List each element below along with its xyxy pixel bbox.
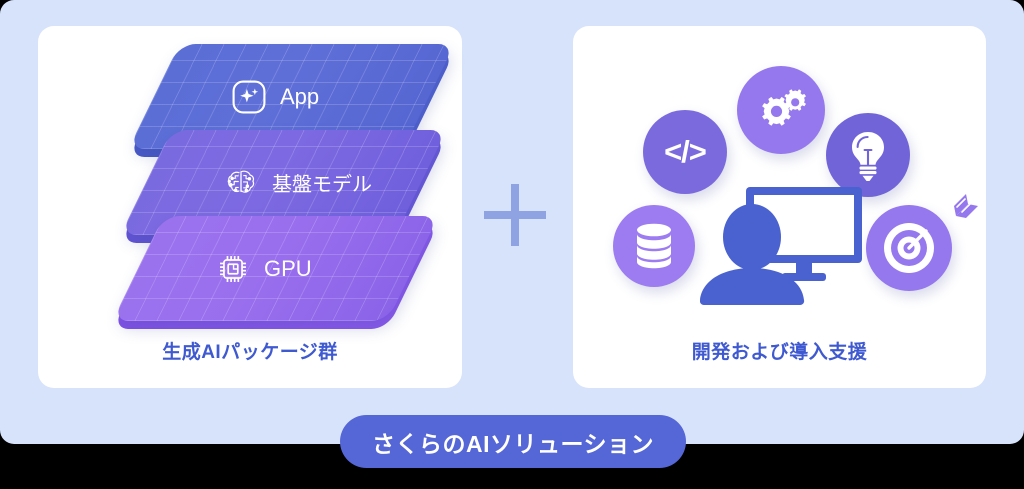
- database-icon: [632, 221, 676, 271]
- plus-icon: [484, 184, 546, 246]
- code-bubble[interactable]: </>: [643, 110, 727, 194]
- solution-badge[interactable]: さくらのAIソリューション: [340, 415, 686, 468]
- lightbulb-icon: [843, 128, 893, 182]
- database-bubble[interactable]: [613, 205, 695, 287]
- person-at-monitor-icon: [700, 185, 865, 310]
- gears-icon: [753, 85, 809, 135]
- right-card-caption: 開発および導入支援: [573, 337, 986, 364]
- arrow-fletching-icon: [926, 186, 988, 248]
- gears-bubble[interactable]: [737, 66, 825, 154]
- left-card-caption: 生成AIパッケージ群: [38, 337, 462, 364]
- left-card: App: [38, 26, 462, 388]
- gpu-layer-slab[interactable]: [112, 216, 438, 321]
- code-icon: </>: [664, 134, 706, 170]
- plus-vertical-bar: [511, 184, 519, 246]
- diagram-root: App: [0, 0, 1024, 489]
- layer-stack: App: [38, 36, 462, 326]
- solution-badge-label: さくらのAIソリューション: [372, 425, 654, 459]
